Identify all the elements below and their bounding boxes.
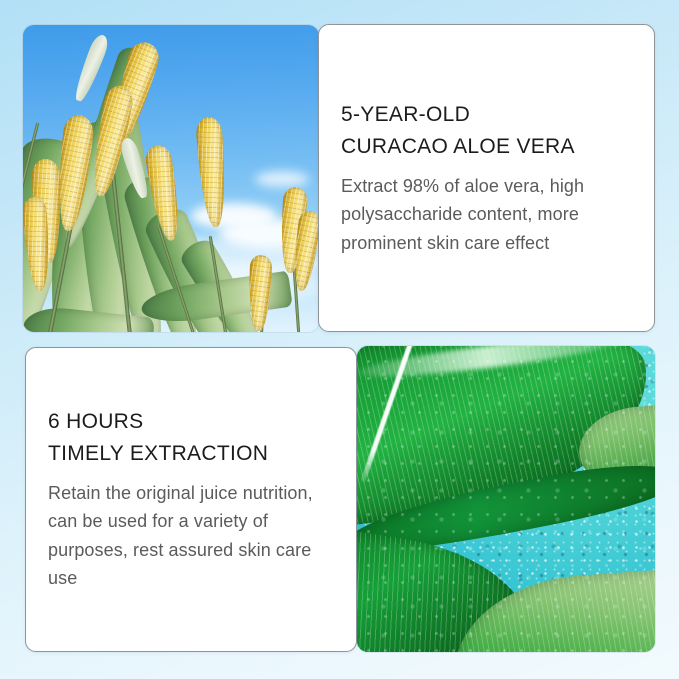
card-heading-line-2: TIMELY EXTRACTION [48,438,334,470]
cloud-shape [255,171,309,187]
card-body: 5-YEAR-OLD CURACAO ALOE VERA Extract 98%… [319,25,654,331]
infographic-root: 5-YEAR-OLD CURACAO ALOE VERA Extract 98%… [0,0,679,679]
extraction-text-card: 6 HOURS TIMELY EXTRACTION Retain the ori… [25,347,357,652]
card-body-text: Extract 98% of aloe vera, high polysacch… [341,172,632,257]
aloe-plants-photo [23,25,319,332]
card-heading-line-2: CURACAO ALOE VERA [341,131,632,163]
card-heading-line-1: 5-YEAR-OLD [341,99,632,131]
card-heading-line-1: 6 HOURS [48,406,334,438]
aloe-gel-photo [357,346,655,652]
card-body: 6 HOURS TIMELY EXTRACTION Retain the ori… [26,348,356,651]
card-body-text: Retain the original juice nutrition, can… [48,479,334,593]
aloe-vera-text-card: 5-YEAR-OLD CURACAO ALOE VERA Extract 98%… [318,24,655,332]
